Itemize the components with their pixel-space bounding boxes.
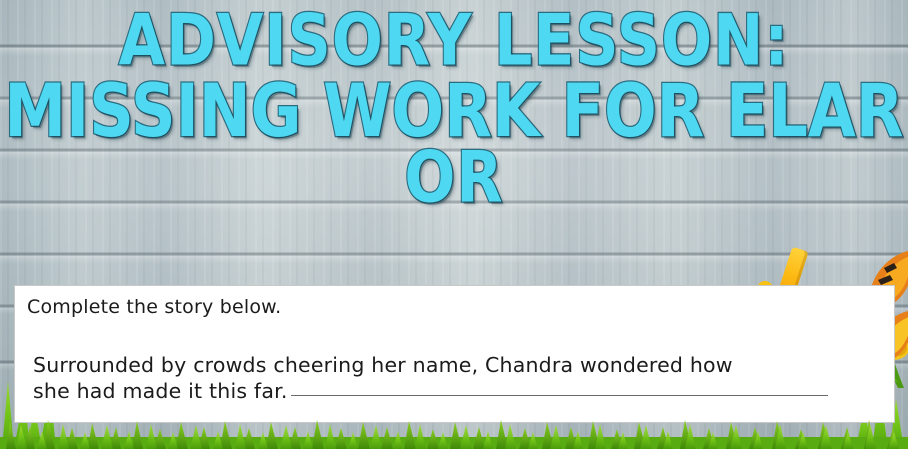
answer-blank-field[interactable] <box>291 395 828 396</box>
title-line-3: OR <box>0 145 908 213</box>
story-line-2-row: she had made it this far. <box>33 378 881 404</box>
slide-canvas: ADVISORY LESSON: MISSING WORK FOR ELAR O… <box>0 0 908 449</box>
story-line-1: Surrounded by crowds cheering her name, … <box>33 352 881 378</box>
prompt-text: Complete the story below. <box>27 296 281 318</box>
content-card: Complete the story below. Surrounded by … <box>14 285 895 423</box>
story-text: Surrounded by crowds cheering her name, … <box>33 352 881 404</box>
title-line-1: ADVISORY LESSON: <box>0 8 908 76</box>
slide-title: ADVISORY LESSON: MISSING WORK FOR ELAR O… <box>0 8 908 213</box>
story-line-2: she had made it this far. <box>33 379 288 403</box>
grass-border <box>0 419 908 449</box>
title-line-2: MISSING WORK FOR ELAR <box>0 76 908 146</box>
